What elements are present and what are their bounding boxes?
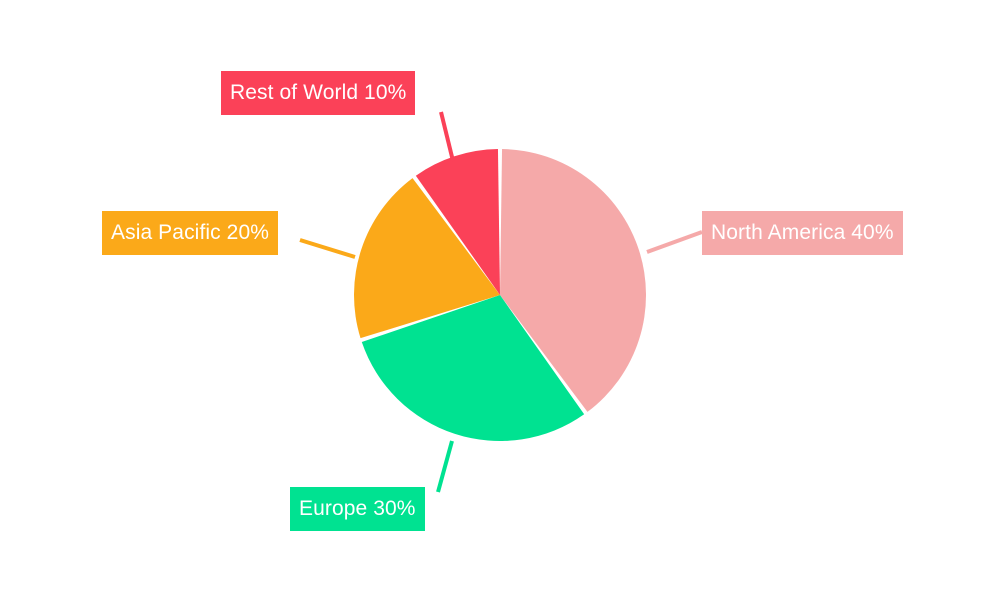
pie-label-asia-pacific[interactable]: Asia Pacific 20% [102,211,278,255]
pie-chart-canvas [0,0,1000,600]
pie-chart: North America 40% Europe 30% Asia Pacifi… [0,0,1000,600]
pie-label-north-america[interactable]: North America 40% [702,211,903,255]
leader-line-europe [438,441,452,492]
leader-line-rest-of-world [441,112,453,161]
leader-line-asia-pacific [300,240,355,257]
pie-label-rest-of-world[interactable]: Rest of World 10% [221,71,415,115]
pie-slices [354,149,646,441]
pie-label-europe[interactable]: Europe 30% [290,487,425,531]
leader-line-north-america [647,232,702,252]
